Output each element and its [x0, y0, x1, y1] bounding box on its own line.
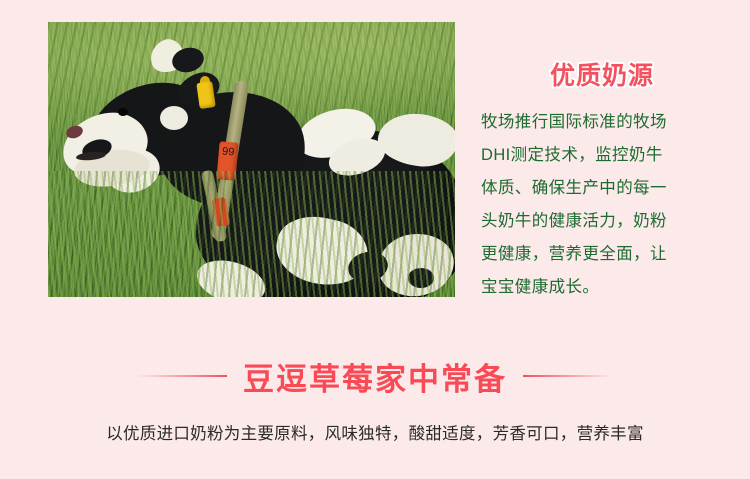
hero-section: 99 优质奶源 牧场推行国际标准的牧场 DHI测定技术，监控奶牛 体质、确保生产…	[0, 0, 750, 330]
body-line: 体质、确保生产中的每一	[481, 172, 731, 205]
body-line: 牧场推行国际标准的牧场	[481, 106, 731, 139]
promo-section: 豆逗草莓家中常备 以优质进口奶粉为主要原料，风味独特，酸甜适度，芳香可口，营养丰…	[0, 352, 750, 479]
promo-headline-row: 豆逗草莓家中常备	[0, 352, 750, 400]
yellow-ear-tag-icon	[196, 81, 215, 109]
body-line: 宝宝健康成长。	[481, 271, 731, 304]
milk-source-info: 优质奶源 牧场推行国际标准的牧场 DHI测定技术，监控奶牛 体质、确保生产中的每…	[481, 56, 731, 304]
cow-forehead-marking	[160, 106, 188, 130]
cow-eye	[118, 108, 128, 116]
product-detail-page: 99 优质奶源 牧场推行国际标准的牧场 DHI测定技术，监控奶牛 体质、确保生产…	[0, 0, 750, 479]
cow-photo: 99	[48, 22, 455, 297]
body-line: 头奶牛的健康活力，奶粉	[481, 205, 731, 238]
promo-headline: 豆逗草莓家中常备	[243, 354, 507, 399]
promo-subtext: 以优质进口奶粉为主要原料，风味独特，酸甜适度，芳香可口，营养丰富	[0, 420, 750, 444]
pasture-background: 99	[48, 22, 455, 297]
body-line: 更健康，营养更全面，让	[481, 238, 731, 271]
milk-source-body: 牧场推行国际标准的牧场 DHI测定技术，监控奶牛 体质、确保生产中的每一 头奶牛…	[481, 106, 731, 304]
body-line: DHI测定技术，监控奶牛	[481, 139, 731, 172]
foreground-grass-icon	[48, 171, 455, 298]
milk-source-title: 优质奶源	[481, 56, 731, 92]
divider-left	[137, 375, 227, 377]
divider-right	[523, 375, 613, 377]
